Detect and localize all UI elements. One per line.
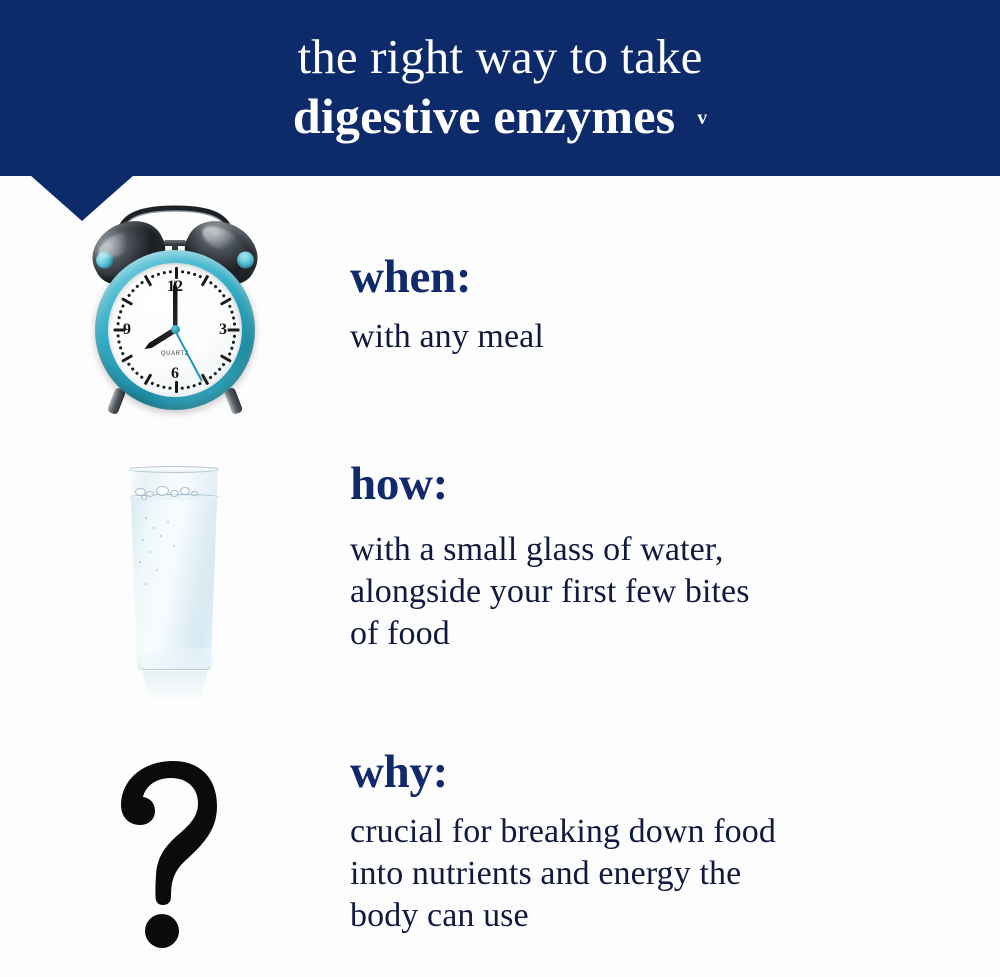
clock-tick-minor xyxy=(218,288,222,292)
section-how-line-1: with a small glass of water, xyxy=(350,529,1000,571)
clock-tick-minor xyxy=(187,271,190,274)
clock-tick-major xyxy=(175,381,178,393)
clock-tick-minor xyxy=(117,316,120,319)
glass-sparkle xyxy=(153,527,155,529)
clock-numeral-6: 6 xyxy=(171,366,179,382)
clock-tick-minor xyxy=(181,270,184,273)
glass-bubble xyxy=(191,491,198,496)
clock-center-pin xyxy=(171,325,180,334)
clock-tick-minor xyxy=(198,274,201,277)
section-why-text-column: why: crucial for breaking down food into… xyxy=(350,745,1000,937)
section-when-text-column: when: with any meal xyxy=(350,200,1000,358)
clock-tick-minor xyxy=(131,367,135,371)
clock-tick-minor xyxy=(135,371,139,375)
section-how-heading: how: xyxy=(350,457,1000,511)
section-when-body: with any meal xyxy=(350,316,1000,358)
clock-tick-minor xyxy=(157,384,160,387)
glass-base xyxy=(137,648,213,670)
clock-tick-minor xyxy=(209,280,213,284)
clock-tick-minor xyxy=(228,304,231,307)
glass-sparkle xyxy=(156,569,158,571)
clock-tick-minor xyxy=(214,371,218,375)
clock-tick-minor xyxy=(233,322,236,325)
glass-sparkle xyxy=(145,583,147,585)
glass-sparkle xyxy=(173,545,175,547)
clock-tick-minor xyxy=(127,362,131,366)
clock-tick-minor xyxy=(214,284,218,288)
clock-tick-minor xyxy=(232,340,235,343)
glass-sparkle xyxy=(145,517,147,519)
clock-tick-major xyxy=(228,328,240,331)
section-when-heading: when: xyxy=(350,250,1000,304)
water-glass-icon xyxy=(115,455,235,705)
page-title-line-2: digestive enzymes xyxy=(293,87,675,145)
question-mark-glyph xyxy=(110,753,240,953)
clock-tick-minor xyxy=(209,375,213,379)
section-how-line-3: of food xyxy=(350,613,1000,655)
header-banner: the right way to take digestive enzymes … xyxy=(0,0,1000,176)
clock-tick-minor xyxy=(116,322,119,325)
section-when: 12 3 6 9 QUARTZ when: with any meal xyxy=(0,200,1000,415)
clock-tick-minor xyxy=(222,362,226,366)
clock-tick-minor xyxy=(121,352,124,355)
glass-bubble xyxy=(141,495,147,500)
clock-tick-minor xyxy=(117,340,120,343)
clock-tick-minor xyxy=(222,293,226,297)
question-mark-icon xyxy=(110,753,240,953)
clock-bell-knob-right-icon xyxy=(234,248,257,271)
section-how-text-column: how: with a small glass of water, alongs… xyxy=(350,455,1000,655)
clock-tick-minor xyxy=(233,334,236,337)
section-how: how: with a small glass of water, alongs… xyxy=(0,455,1000,705)
clock-tick-minor xyxy=(135,284,139,288)
clock-tick-minor xyxy=(163,271,166,274)
clock-tick-minor xyxy=(140,375,144,379)
glass-bubble xyxy=(180,487,190,495)
clock-tick-minor xyxy=(151,381,154,384)
glass-reflection xyxy=(131,671,219,703)
infographic-page: the right way to take digestive enzymes … xyxy=(0,0,1000,977)
clock-tick-minor xyxy=(131,288,135,292)
glass-bubble xyxy=(156,486,169,496)
page-title-suffix: ᵛ xyxy=(697,94,707,152)
section-why-body: crucial for breaking down food into nutr… xyxy=(350,811,1000,937)
glass-sparkle xyxy=(149,551,151,553)
section-why-line-1: crucial for breaking down food xyxy=(350,811,1000,853)
clock-bell-knob-left-icon xyxy=(93,248,116,271)
clock-tick-minor xyxy=(119,310,122,313)
glass-sparkle xyxy=(160,535,162,537)
clock-tick-minor xyxy=(230,346,233,349)
clock-minute-hand xyxy=(173,280,178,330)
glass-rim xyxy=(129,466,219,473)
clock-numeral-3: 3 xyxy=(219,322,227,338)
clock-face: 12 3 6 9 QUARTZ xyxy=(108,263,242,397)
clock-tick-minor xyxy=(198,381,201,384)
section-why-line-3: body can use xyxy=(350,895,1000,937)
clock-tick-minor xyxy=(193,384,196,387)
clock-tick-minor xyxy=(181,386,184,389)
clock-tick-minor xyxy=(169,270,172,273)
section-why-icon-column xyxy=(0,745,350,960)
clock-tick-minor xyxy=(157,272,160,275)
clock-tick-minor xyxy=(228,352,231,355)
glass-sparkle xyxy=(167,521,169,523)
clock-tick-minor xyxy=(218,367,222,371)
section-how-icon-column xyxy=(0,455,350,705)
section-why: why: crucial for breaking down food into… xyxy=(0,745,1000,960)
section-when-icon-column: 12 3 6 9 QUARTZ xyxy=(0,200,350,415)
clock-tick-minor xyxy=(169,386,172,389)
glass-bubble xyxy=(146,491,154,497)
banner-tail-icon xyxy=(30,175,134,221)
clock-tick-minor xyxy=(187,385,190,388)
glass-sparkle xyxy=(142,539,144,541)
glass-bubble xyxy=(170,490,179,497)
page-title-line-2-wrap: digestive enzymes ᵛ xyxy=(293,87,707,152)
clock-tick-minor xyxy=(119,346,122,349)
clock-tick-major xyxy=(201,274,210,286)
clock-tick-minor xyxy=(230,310,233,313)
clock-tick-minor xyxy=(193,272,196,275)
section-how-line-2: alongside your first few bites xyxy=(350,571,1000,613)
clock-case: 12 3 6 9 QUARTZ xyxy=(95,250,255,410)
glass-sparkle xyxy=(139,561,141,563)
page-title-line-1: the right way to take xyxy=(298,29,703,85)
alarm-clock-icon: 12 3 6 9 QUARTZ xyxy=(85,202,265,414)
clock-tick-minor xyxy=(121,304,124,307)
glass-water-fill xyxy=(123,497,225,670)
clock-tick-minor xyxy=(140,280,144,284)
clock-tick-minor xyxy=(232,316,235,319)
section-why-line-2: into nutrients and energy the xyxy=(350,853,1000,895)
clock-tick-minor xyxy=(163,385,166,388)
clock-numeral-9: 9 xyxy=(123,322,131,338)
section-why-heading: why: xyxy=(350,745,1000,799)
section-how-body: with a small glass of water, alongside y… xyxy=(350,529,1000,655)
clock-tick-minor xyxy=(116,334,119,337)
clock-tick-minor xyxy=(151,274,154,277)
clock-tick-minor xyxy=(127,293,131,297)
section-when-line-1: with any meal xyxy=(350,316,1000,358)
header-banner-content: the right way to take digestive enzymes … xyxy=(0,0,1000,176)
